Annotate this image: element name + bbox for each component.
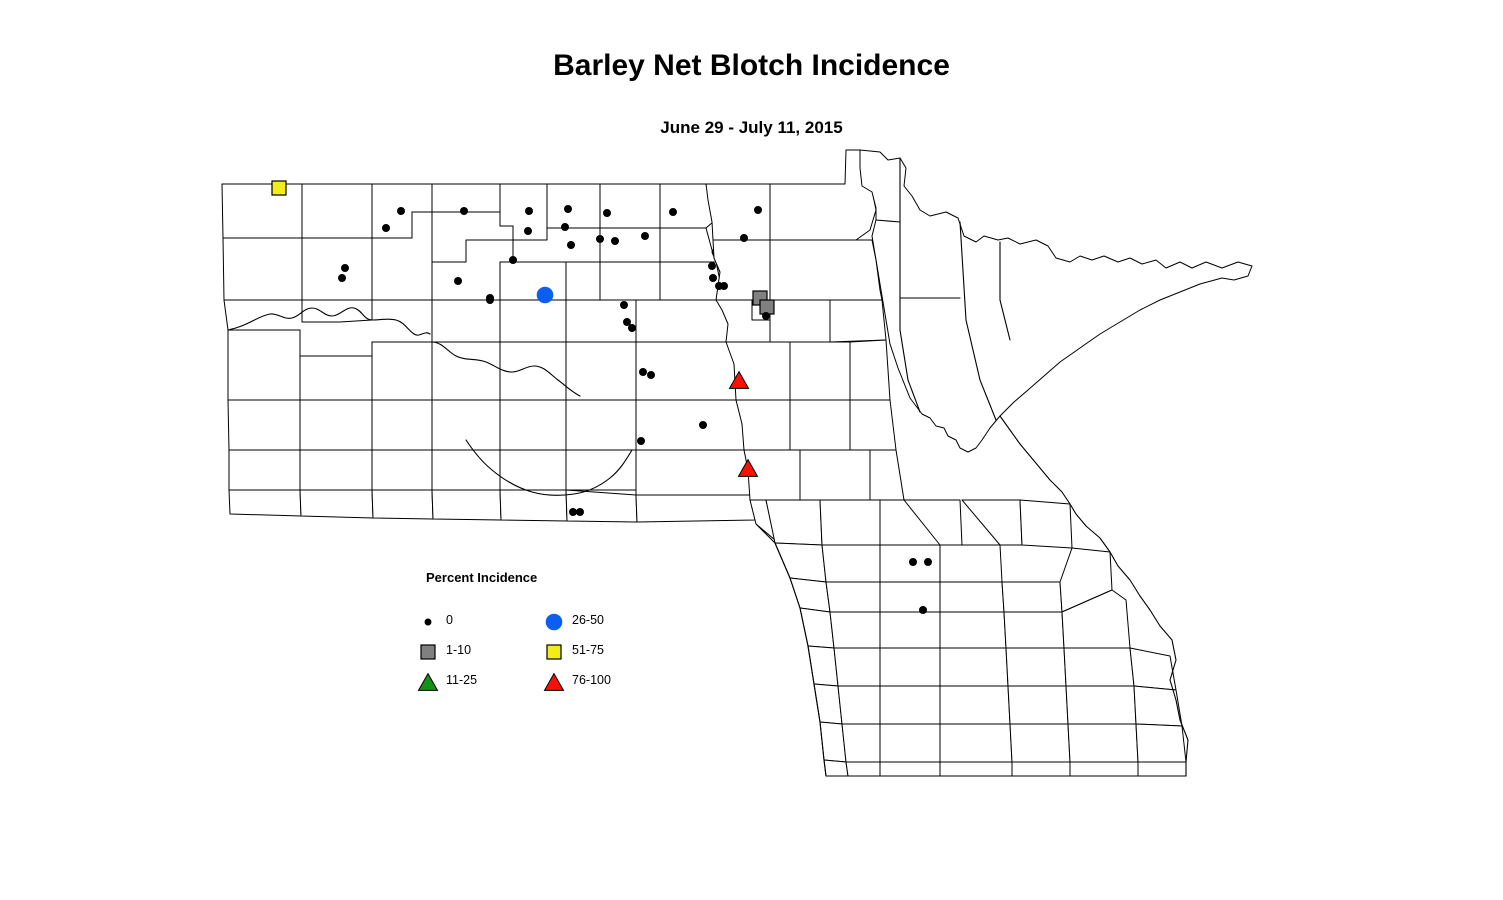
map-marker-0 [909, 558, 916, 565]
map-marker-0 [708, 262, 715, 269]
map-marker-0 [564, 205, 571, 212]
legend-symbol-circle-icon [540, 608, 568, 634]
map-marker-0 [382, 224, 389, 231]
map-marker-0 [762, 312, 769, 319]
legend-symbol-triangle-icon [540, 668, 568, 694]
map-marker-51-75 [272, 181, 286, 195]
map-marker-0 [637, 437, 644, 444]
legend-label: 0 [446, 613, 453, 627]
legend-label: 26-50 [572, 613, 604, 627]
map-marker-26-50 [537, 287, 553, 303]
map-marker-1-10 [760, 300, 774, 314]
map-page: Barley Net Blotch Incidence June 29 - Ju… [0, 0, 1503, 900]
map-marker-0 [576, 508, 583, 515]
minnesota-counties [706, 150, 1252, 776]
map-marker-0 [569, 508, 576, 515]
map-marker-0 [603, 209, 610, 216]
legend-title: Percent Incidence [426, 570, 537, 585]
incidence-map [0, 0, 1503, 900]
legend-label: 51-75 [572, 643, 604, 657]
map-marker-0 [454, 277, 461, 284]
map-marker-0 [596, 235, 603, 242]
legend-label: 11-25 [446, 673, 477, 687]
north-dakota-counties [222, 184, 755, 522]
legend-label: 1-10 [446, 643, 471, 657]
map-marker-0 [524, 227, 531, 234]
map-marker-0 [509, 256, 516, 263]
map-marker-0 [699, 421, 706, 428]
map-marker-0 [397, 207, 404, 214]
legend: Percent Incidence 01-1011-25 26-5051-757… [414, 570, 674, 705]
map-marker-0 [647, 371, 654, 378]
map-marker-0 [639, 368, 646, 375]
legend-symbol-square-icon [540, 638, 568, 664]
map-marker-0 [338, 274, 345, 281]
map-marker-0 [720, 282, 727, 289]
legend-symbol-square-icon [414, 638, 442, 664]
map-marker-0 [709, 274, 716, 281]
map-marker-0 [486, 296, 493, 303]
map-marker-0 [919, 606, 926, 613]
map-marker-0 [669, 208, 676, 215]
map-marker-0 [341, 264, 348, 271]
map-marker-0 [561, 223, 568, 230]
legend-label: 76-100 [572, 673, 611, 687]
map-marker-0 [620, 301, 627, 308]
map-marker-0 [611, 237, 618, 244]
map-marker-0 [740, 234, 747, 241]
map-marker-0 [623, 318, 630, 325]
map-marker-0 [641, 232, 648, 239]
map-marker-0 [567, 241, 574, 248]
map-marker-0 [525, 207, 532, 214]
legend-symbol-triangle-icon [414, 668, 442, 694]
map-marker-0 [460, 207, 467, 214]
map-marker-0 [924, 558, 931, 565]
map-marker-0 [754, 206, 761, 213]
map-marker-0 [628, 324, 635, 331]
legend-symbol-dot-icon [414, 608, 442, 634]
